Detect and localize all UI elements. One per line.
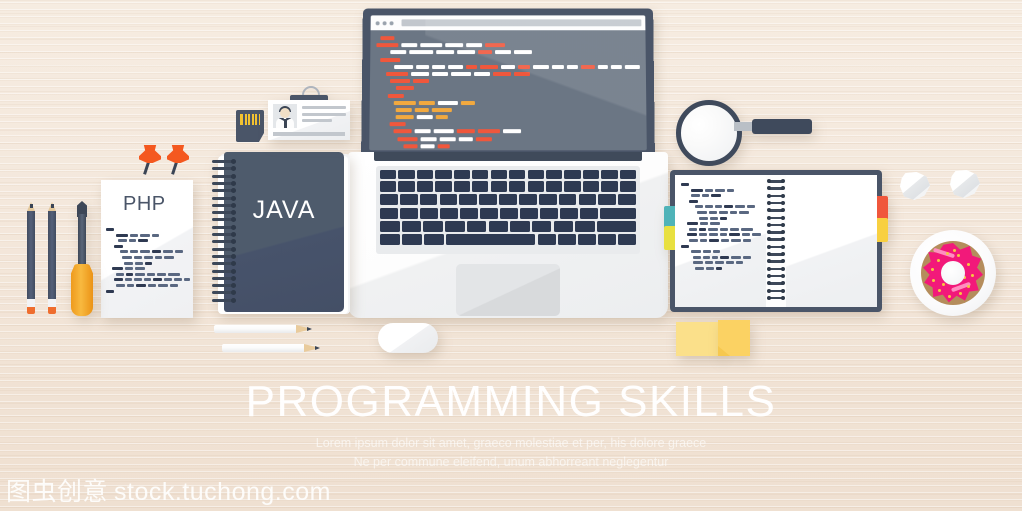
- keyboard-key[interactable]: [489, 221, 509, 232]
- code-line: [376, 50, 639, 54]
- code-token: [719, 211, 728, 214]
- white-pencil-2[interactable]: [222, 344, 320, 352]
- code-token: [687, 222, 698, 225]
- keyboard-key[interactable]: [500, 208, 518, 219]
- keyboard-key[interactable]: [417, 181, 433, 192]
- spiral-ring: [212, 270, 236, 273]
- keyboard-key[interactable]: [440, 194, 458, 205]
- spiral-ring: [768, 275, 784, 278]
- notebook-code-lines: [681, 183, 763, 273]
- open-notebook[interactable]: [670, 170, 882, 312]
- keyboard-key[interactable]: [459, 194, 477, 205]
- code-token: [567, 65, 579, 69]
- window-close-dot[interactable]: [376, 21, 380, 25]
- keyboard-row: [380, 170, 636, 179]
- keyboard-key[interactable]: [423, 221, 443, 232]
- keyboard-key[interactable]: [402, 221, 422, 232]
- keyboard-key[interactable]: [598, 194, 616, 205]
- code-token: [731, 239, 741, 242]
- spiral-ring: [212, 182, 236, 185]
- keyboard-key[interactable]: [560, 208, 578, 219]
- keyboard-key[interactable]: [435, 170, 451, 179]
- window-maximize-dot[interactable]: [390, 21, 394, 25]
- white-pencil-1[interactable]: [214, 325, 312, 333]
- code-line: [376, 36, 639, 40]
- code-token: [129, 239, 136, 242]
- keyboard-key[interactable]: [398, 170, 414, 179]
- code-token: [693, 256, 701, 259]
- screwdriver-shaft: [78, 214, 86, 272]
- subtitle-line-2: Ne per commune eleifend, unum abhorreant…: [0, 453, 1022, 472]
- code-token: [459, 137, 473, 141]
- code-token: [114, 245, 123, 248]
- code-token: [715, 261, 724, 264]
- keyboard-key[interactable]: [446, 234, 536, 245]
- keyboard-key[interactable]: [539, 194, 557, 205]
- keyboard-key[interactable]: [380, 234, 400, 245]
- pushpin-2[interactable]: [167, 145, 189, 175]
- graphite-pencil-1[interactable]: [27, 202, 35, 314]
- code-token: [152, 234, 159, 237]
- code-token: [419, 101, 435, 105]
- spiral-ring: [212, 291, 236, 294]
- watermark: 图虫创意 stock.tuchong.com: [6, 472, 331, 508]
- code-line: [681, 189, 763, 192]
- code-token: [394, 130, 412, 134]
- code-token: [695, 205, 703, 208]
- keyboard-row: [380, 234, 636, 245]
- java-notebook-title: JAVA: [224, 196, 344, 225]
- keyboard-key[interactable]: [499, 194, 517, 205]
- pushpin-1[interactable]: [139, 145, 161, 175]
- code-token: [743, 256, 751, 259]
- code-token: [518, 65, 530, 69]
- keyboard-key[interactable]: [380, 208, 398, 219]
- spiral-ring: [212, 255, 236, 258]
- keyboard-row: [380, 221, 636, 232]
- code-token: [124, 262, 133, 265]
- keyboard-key[interactable]: [417, 170, 433, 179]
- screwdriver[interactable]: [71, 198, 93, 316]
- keyboard-key[interactable]: [546, 181, 562, 192]
- magnifying-glass-icon[interactable]: [676, 98, 812, 160]
- code-token: [705, 189, 713, 192]
- keyboard-key[interactable]: [559, 194, 577, 205]
- code-token: [147, 273, 155, 276]
- headline-block: PROGRAMMING SKILLS Lorem ipsum dolor sit…: [0, 380, 1022, 473]
- code-token: [118, 239, 127, 242]
- code-token: [741, 228, 753, 231]
- code-token: [416, 65, 429, 69]
- keyboard-key[interactable]: [510, 221, 530, 232]
- spiral-ring: [212, 211, 236, 214]
- code-token: [552, 65, 564, 69]
- spiral-ring: [212, 262, 236, 265]
- code-token: [730, 228, 739, 231]
- code-token: [155, 256, 162, 259]
- code-token: [164, 278, 171, 281]
- keyboard-key[interactable]: [520, 208, 538, 219]
- donut[interactable]: [921, 241, 985, 305]
- code-line: [376, 43, 639, 47]
- keyboard-key[interactable]: [601, 181, 617, 192]
- code-token: [420, 43, 442, 47]
- keyboard-key[interactable]: [398, 181, 414, 192]
- code-token: [709, 211, 717, 214]
- spiral-ring: [212, 299, 236, 302]
- keyboard-key[interactable]: [509, 170, 525, 179]
- code-token: [681, 183, 689, 186]
- keyboard-key[interactable]: [601, 170, 617, 179]
- keyboard-key[interactable]: [491, 170, 507, 179]
- code-token: [720, 233, 727, 236]
- code-token: [140, 250, 150, 253]
- spiral-ring: [212, 233, 236, 236]
- code-line: [681, 183, 763, 186]
- spiral-ring: [768, 297, 784, 300]
- pencil-body: [222, 344, 304, 352]
- code-token: [163, 250, 173, 253]
- code-token: [130, 234, 138, 237]
- code-editor-content: [369, 30, 647, 150]
- code-line: [376, 72, 640, 76]
- keyboard-key[interactable]: [554, 221, 574, 232]
- keyboard-key[interactable]: [575, 221, 595, 232]
- code-token: [135, 262, 143, 265]
- code-token: [581, 65, 594, 69]
- laptop[interactable]: [348, 8, 668, 318]
- magnifier-handle: [752, 119, 812, 134]
- laptop-trackpad[interactable]: [456, 264, 560, 316]
- subtitle-line-1: Lorem ipsum dolor sit amet, graeco moles…: [0, 434, 1022, 453]
- code-token: [689, 239, 698, 242]
- spiral-ring: [768, 253, 784, 256]
- plate: [910, 230, 996, 316]
- code-token: [493, 72, 511, 76]
- code-token: [457, 130, 475, 134]
- notebook-cover: JAVA: [224, 152, 344, 312]
- code-token: [625, 65, 640, 69]
- code-token: [144, 256, 153, 259]
- code-token: [401, 43, 417, 47]
- code-token: [691, 194, 700, 197]
- code-token: [495, 50, 511, 54]
- spiral-ring: [768, 224, 784, 227]
- laptop-base: [348, 152, 668, 318]
- keyboard-key[interactable]: [546, 170, 562, 179]
- code-token: [702, 194, 709, 197]
- code-token: [699, 228, 706, 231]
- pencil-wood-tip: [296, 325, 307, 333]
- code-line: [106, 245, 190, 248]
- keyboard-key[interactable]: [583, 170, 599, 179]
- code-token: [752, 233, 761, 236]
- code-token: [466, 65, 478, 69]
- code-token: [451, 72, 471, 76]
- code-token: [705, 205, 713, 208]
- code-token: [125, 278, 132, 281]
- code-token: [689, 200, 698, 203]
- code-line: [681, 205, 763, 208]
- spiral-ring: [212, 204, 236, 207]
- code-token: [731, 256, 741, 259]
- keyboard-key[interactable]: [600, 208, 636, 219]
- keyboard-key[interactable]: [445, 221, 465, 232]
- code-token: [715, 205, 722, 208]
- code-line: [376, 122, 641, 126]
- code-token: [478, 50, 492, 54]
- avatar-head: [280, 108, 290, 118]
- code-token: [153, 278, 163, 281]
- spiral-ring: [768, 268, 784, 271]
- code-token: [681, 245, 689, 248]
- code-token: [112, 267, 123, 270]
- keyboard-key[interactable]: [558, 234, 576, 245]
- code-line: [376, 115, 641, 119]
- code-token: [716, 267, 722, 270]
- bookmark-tab-yellow[interactable]: [664, 226, 675, 250]
- code-token: [394, 65, 413, 69]
- code-line: [106, 290, 190, 293]
- keyboard-key[interactable]: [620, 170, 636, 179]
- code-token: [485, 43, 505, 47]
- spiral-ring: [768, 260, 784, 263]
- code-token: [126, 273, 133, 276]
- keyboard-key[interactable]: [618, 194, 636, 205]
- spiral-ring: [212, 160, 236, 163]
- code-line: [375, 137, 640, 141]
- keyboard-key[interactable]: [620, 181, 636, 192]
- spiral-ring: [768, 231, 784, 234]
- code-token: [164, 256, 174, 259]
- crumpled-paper-2[interactable]: [950, 170, 980, 198]
- laptop-hinge: [374, 152, 642, 161]
- sticky-note-1[interactable]: [676, 322, 722, 356]
- code-token: [397, 137, 417, 141]
- code-token: [386, 72, 408, 76]
- keyboard-key[interactable]: [440, 208, 458, 219]
- window-minimize-dot[interactable]: [383, 21, 387, 25]
- address-bar[interactable]: [401, 19, 641, 26]
- java-notebook[interactable]: JAVA: [212, 152, 352, 316]
- code-line: [681, 267, 763, 270]
- notebook-pages: [675, 175, 877, 307]
- pencil-body: [27, 211, 35, 299]
- pencil-tip: [48, 202, 56, 211]
- code-token: [735, 205, 745, 208]
- keyboard-key[interactable]: [540, 208, 558, 219]
- code-token: [432, 65, 445, 69]
- keyboard-key[interactable]: [480, 208, 498, 219]
- code-token: [415, 108, 429, 112]
- keyboard-key[interactable]: [580, 208, 598, 219]
- laptop-keyboard[interactable]: [376, 166, 640, 254]
- code-token: [116, 273, 124, 276]
- code-token: [145, 262, 152, 265]
- code-token: [390, 50, 406, 54]
- code-token: [501, 65, 516, 69]
- code-token: [697, 211, 707, 214]
- code-token: [466, 43, 482, 47]
- spiral-ring: [212, 277, 236, 280]
- keyboard-key[interactable]: [400, 208, 418, 219]
- keyboard-key[interactable]: [528, 170, 544, 179]
- code-token: [736, 261, 743, 264]
- keyboard-key[interactable]: [472, 181, 488, 192]
- spiral-ring: [768, 209, 784, 212]
- code-token: [432, 108, 452, 112]
- code-token: [127, 284, 134, 287]
- keyboard-key[interactable]: [380, 194, 398, 205]
- graphite-pencil-2[interactable]: [48, 202, 56, 314]
- keyboard-key[interactable]: [380, 170, 396, 179]
- id-badge[interactable]: [268, 86, 350, 140]
- laptop-lid: [361, 8, 655, 154]
- spiral-ring: [212, 248, 236, 251]
- spiral-ring: [212, 197, 236, 200]
- code-token: [703, 250, 711, 253]
- code-token: [125, 267, 133, 270]
- code-token: [691, 189, 703, 192]
- code-token: [152, 250, 161, 253]
- pencil-eraser: [27, 307, 35, 314]
- code-token: [122, 256, 132, 259]
- spiral-ring: [768, 246, 784, 249]
- code-line: [106, 256, 190, 259]
- code-token: [712, 256, 718, 259]
- keyboard-key[interactable]: [519, 194, 537, 205]
- code-token: [184, 278, 190, 281]
- code-line: [681, 261, 763, 264]
- keyboard-key[interactable]: [528, 181, 544, 192]
- keyboard-key[interactable]: [579, 194, 597, 205]
- keyboard-key[interactable]: [597, 221, 636, 232]
- keyboard-key[interactable]: [564, 181, 580, 192]
- desktop-scene: JAVA PHP: [0, 0, 1022, 511]
- keyboard-key[interactable]: [420, 208, 438, 219]
- code-line: [681, 239, 763, 242]
- keyboard-key[interactable]: [509, 181, 525, 192]
- spiral-ring: [212, 189, 236, 192]
- spiral-ring: [212, 240, 236, 243]
- code-token: [434, 130, 454, 134]
- code-token: [116, 234, 128, 237]
- keyboard-key[interactable]: [472, 170, 488, 179]
- code-token: [743, 239, 751, 242]
- sd-memory-card[interactable]: [236, 110, 264, 142]
- pencil-wood-tip: [304, 344, 315, 352]
- code-line: [681, 222, 763, 225]
- code-line: [681, 200, 763, 203]
- keyboard-row: [380, 194, 636, 205]
- code-line: [681, 217, 763, 220]
- code-token: [421, 144, 435, 148]
- keyboard-key[interactable]: [618, 234, 636, 245]
- code-token: [710, 217, 718, 220]
- spiral-ring: [768, 238, 784, 241]
- code-token: [695, 267, 704, 270]
- spiral-ring: [212, 226, 236, 229]
- browser-toolbar: [371, 15, 646, 30]
- keyboard-key[interactable]: [479, 194, 497, 205]
- pencil-eraser: [48, 307, 56, 314]
- code-token: [157, 273, 166, 276]
- page-title: PROGRAMMING SKILLS: [0, 380, 1022, 424]
- code-line: [681, 233, 763, 236]
- code-line: [106, 239, 190, 242]
- spiral-ring: [768, 202, 784, 205]
- keyboard-key[interactable]: [578, 234, 596, 245]
- keyboard-key[interactable]: [400, 194, 418, 205]
- code-line: [376, 94, 640, 98]
- keyboard-key[interactable]: [435, 181, 451, 192]
- code-token: [699, 217, 708, 220]
- keyboard-key[interactable]: [467, 221, 487, 232]
- keyboard-key[interactable]: [460, 208, 478, 219]
- bookmark-tab-red[interactable]: [877, 196, 888, 220]
- donut-hole: [941, 261, 965, 285]
- code-token: [742, 233, 750, 236]
- code-token: [417, 115, 433, 119]
- computer-mouse[interactable]: [378, 323, 438, 353]
- code-token: [168, 273, 180, 276]
- sticky-note-2[interactable]: [718, 320, 750, 356]
- code-token: [706, 267, 714, 270]
- code-token: [476, 137, 492, 141]
- code-token: [106, 290, 114, 293]
- code-token: [709, 239, 719, 242]
- keyboard-key[interactable]: [420, 194, 438, 205]
- code-token: [739, 211, 749, 214]
- keyboard-key[interactable]: [424, 234, 444, 245]
- code-token: [448, 65, 463, 69]
- code-line: [106, 262, 190, 265]
- crumpled-paper-1[interactable]: [900, 172, 930, 200]
- bookmark-tab-amber[interactable]: [877, 218, 888, 242]
- code-token: [709, 233, 718, 236]
- code-token: [514, 50, 532, 54]
- keyboard-key[interactable]: [380, 181, 396, 192]
- code-token: [721, 239, 729, 242]
- keyboard-key[interactable]: [380, 221, 400, 232]
- code-token: [136, 284, 146, 287]
- code-token: [533, 65, 549, 69]
- code-token: [421, 137, 437, 141]
- sd-card-contacts: [240, 114, 260, 125]
- code-token: [724, 205, 733, 208]
- watermark-domain: stock.tuchong.com: [114, 478, 331, 507]
- keyboard-key[interactable]: [538, 234, 556, 245]
- keyboard-key[interactable]: [491, 181, 507, 192]
- php-sheet[interactable]: PHP: [101, 180, 193, 318]
- avatar-tie: [284, 119, 287, 128]
- laptop-screen[interactable]: [369, 15, 647, 150]
- code-token: [720, 256, 729, 259]
- code-line: [376, 79, 640, 83]
- code-token: [134, 278, 142, 281]
- keyboard-key[interactable]: [564, 170, 580, 179]
- code-token: [611, 65, 623, 69]
- keyboard-key[interactable]: [583, 181, 599, 192]
- screwdriver-handle: [71, 264, 93, 316]
- keyboard-key[interactable]: [454, 181, 470, 192]
- magnifier-neck: [734, 122, 754, 131]
- keyboard-key[interactable]: [532, 221, 552, 232]
- code-token: [438, 144, 450, 148]
- keyboard-key[interactable]: [454, 170, 470, 179]
- keyboard-key[interactable]: [598, 234, 616, 245]
- keyboard-key[interactable]: [402, 234, 422, 245]
